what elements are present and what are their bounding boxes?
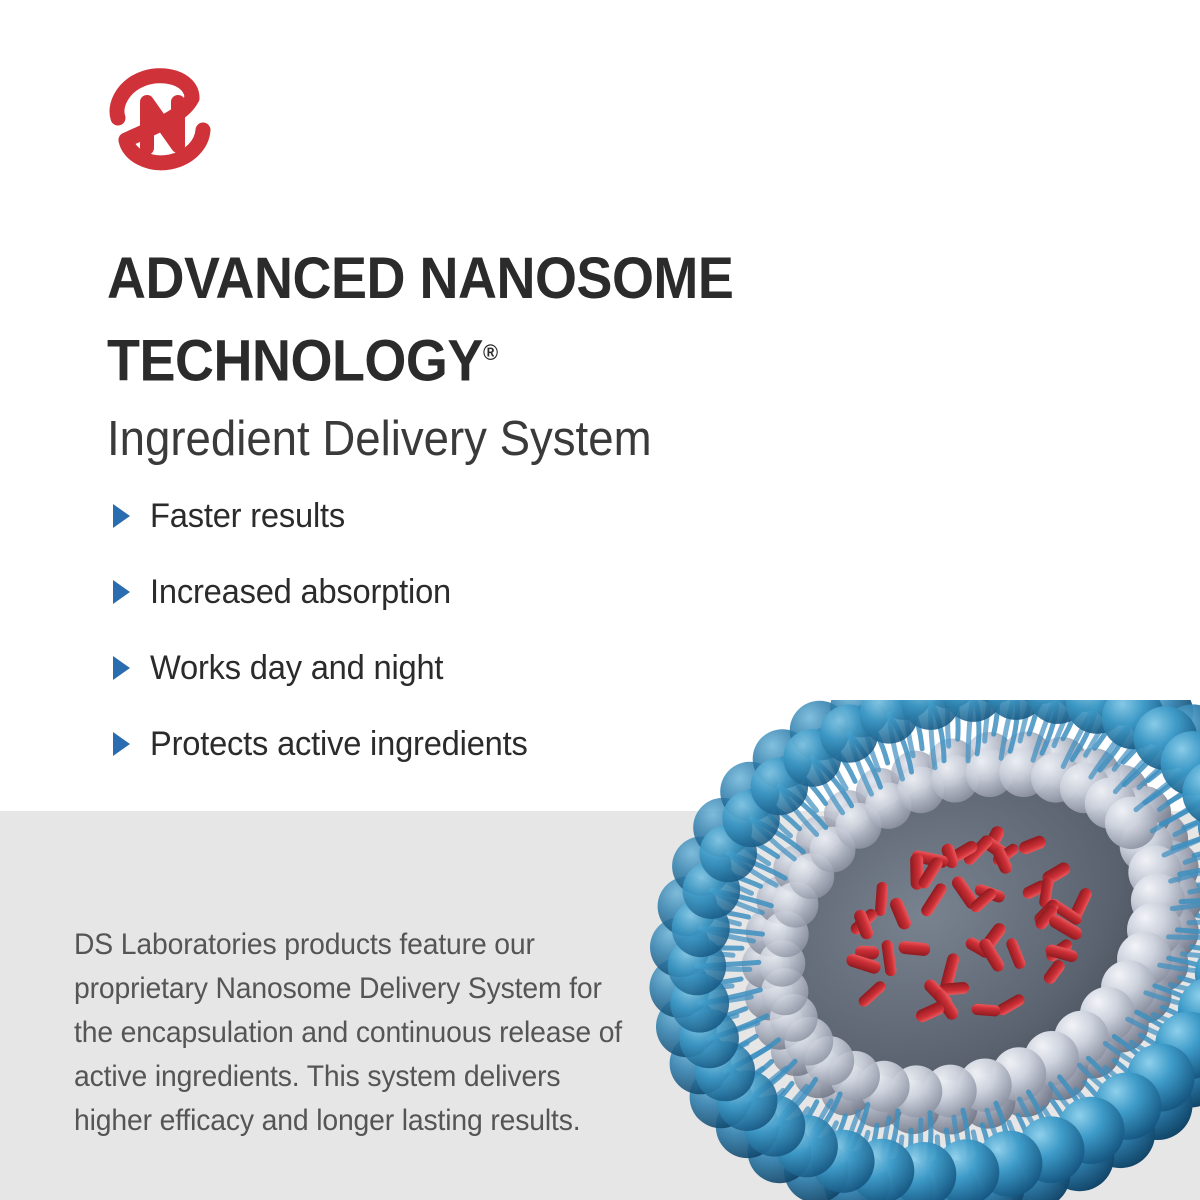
registered-trademark-symbol: ® xyxy=(483,340,498,365)
triangle-bullet-icon xyxy=(113,656,130,680)
benefit-label: Faster results xyxy=(150,497,345,536)
benefits-list: Faster results Increased absorption Work… xyxy=(113,478,753,782)
list-item: Increased absorption xyxy=(113,554,753,630)
triangle-bullet-icon xyxy=(113,580,130,604)
benefit-label: Increased absorption xyxy=(150,573,451,612)
ds-laboratories-nanosome-logo-icon xyxy=(104,62,222,180)
page-title: ADVANCED NANOSOME TECHNOLOGY® xyxy=(107,242,888,398)
headline-line-2: TECHNOLOGY xyxy=(107,328,483,393)
triangle-bullet-icon xyxy=(113,732,130,756)
benefit-label: Protects active ingredients xyxy=(150,725,528,764)
page-subtitle: Ingredient Delivery System xyxy=(107,411,888,467)
nanosome-technology-infographic: ADVANCED NANOSOME TECHNOLOGY® Ingredient… xyxy=(0,0,1200,1200)
list-item: Faster results xyxy=(113,478,753,554)
description-paragraph: DS Laboratories products feature our pro… xyxy=(74,923,640,1143)
list-item: Works day and night xyxy=(113,630,753,706)
list-item: Protects active ingredients xyxy=(113,706,753,782)
triangle-bullet-icon xyxy=(113,504,130,528)
headline-line-1: ADVANCED NANOSOME xyxy=(107,246,733,311)
benefit-label: Works day and night xyxy=(150,649,443,688)
